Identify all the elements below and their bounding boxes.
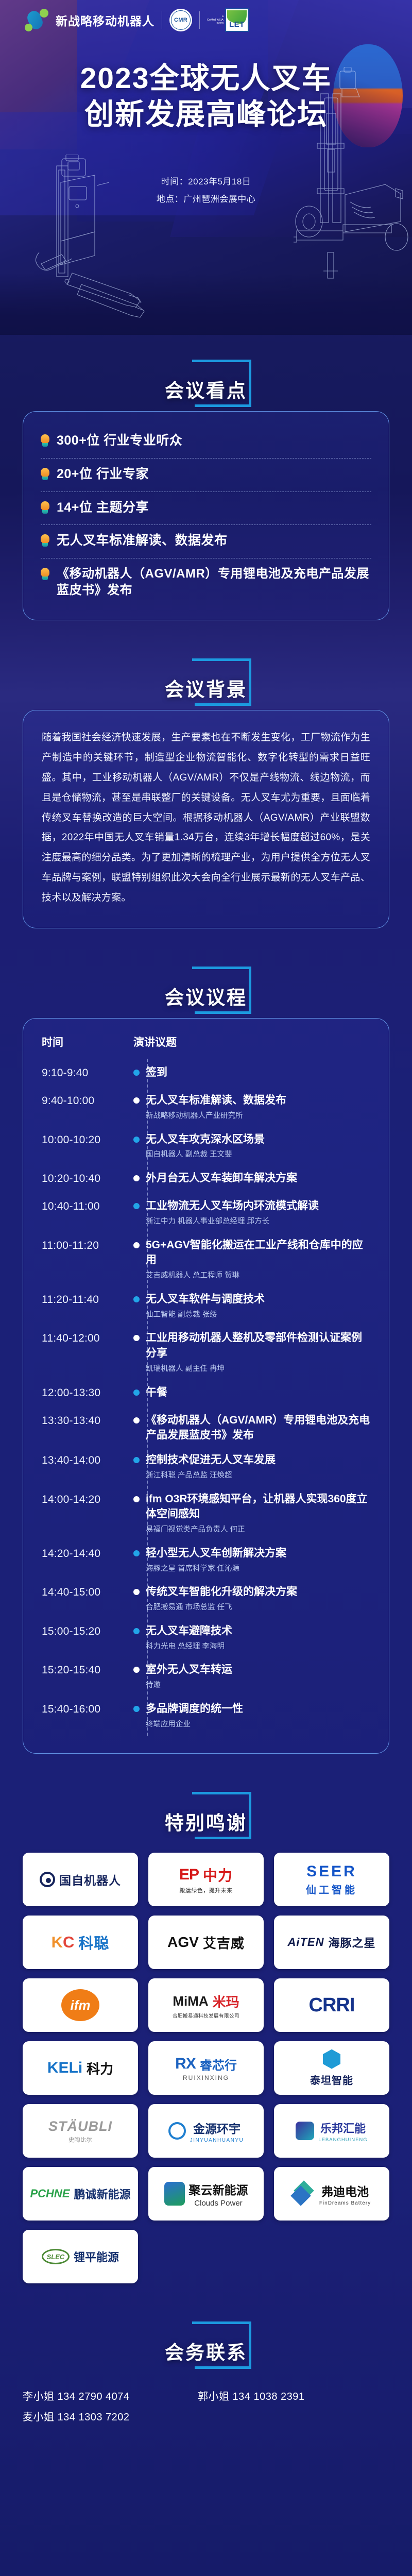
timeline-dot-icon [133, 1496, 140, 1502]
agenda-speaker: 浙江科聪 产品总监 汪焕超 [146, 1469, 371, 1482]
agenda-speaker: 国自机器人 副总裁 王文斐 [146, 1148, 371, 1161]
agenda-topic: 外月台无人叉车装卸车解决方案 [146, 1171, 371, 1186]
sponsor-abbrev: PCHNE [30, 2187, 70, 2200]
agenda-dot-cell [127, 1065, 146, 1076]
agenda-speaker: 仙工智能 副总裁 张绥 [146, 1309, 371, 1321]
agenda-dot-cell [127, 1385, 146, 1396]
let-sub-c: event [207, 22, 224, 25]
agenda-speaker: 艾吉威机器人 总工程师 贺琳 [146, 1269, 371, 1282]
highlights-heading: 会议看点 [165, 375, 247, 403]
sponsor-tagline: 搬运绿色，提升未来 [179, 1886, 233, 1894]
background-paragraph: 随着我国社会经济快速发展，生产要素也在不断发生变化，工厂物流作为生产制造中的关键… [42, 728, 370, 908]
agenda-dot-cell [127, 1662, 146, 1673]
agenda-row: 14:00-14:20ifm O3R环境感知平台，让机器人实现360度立体空间感… [42, 1487, 371, 1541]
lightbulb-icon [41, 468, 49, 481]
agenda-card: 时间 演讲议题 9:10-9:40签到9:40-10:00无人叉车标准解读、数据… [23, 1018, 389, 1754]
highlight-item: 无人叉车标准解读、数据发布 [41, 524, 371, 558]
contact-item: 麦小姐 134 1303 7202 [23, 2407, 198, 2428]
timeline-dot-icon [133, 1417, 140, 1423]
agenda-dot-cell [127, 1546, 146, 1556]
section-header-agenda: 会议议程 [0, 964, 412, 1018]
timeline-dot-icon [133, 1706, 140, 1712]
event-date: 时间：2023年5月18日 [0, 173, 412, 191]
agenda-body: 签到 [146, 1065, 371, 1080]
let-logo-icon: LET [225, 8, 249, 32]
agenda-speaker: 易福门视觉类产品负责人 何正 [146, 1523, 371, 1536]
sponsor-logo-lebang: 乐邦汇能 LEBANGHUINENG [274, 2104, 389, 2158]
highlight-item: 《移动机器人（AGV/AMR）专用锂电池及充电产品发展蓝皮书》发布 [41, 558, 371, 607]
agenda-body: 无人叉车软件与调度技术仙工智能 副总裁 张绥 [146, 1292, 371, 1321]
agenda-row: 14:20-14:40轻小型无人叉车创新解决方案海豚之星 首席科学家 任沁源 [42, 1541, 371, 1580]
section-header-sponsors: 特别鸣谢 [0, 1790, 412, 1843]
agenda-time: 14:00-14:20 [42, 1492, 127, 1508]
sponsor-tagline: RUIXINXING [183, 2074, 229, 2081]
agenda-body: 传统叉车智能化升级的解决方案合肥搬易通 市场总监 任飞 [146, 1584, 371, 1614]
sponsor-logo-cloudspower: 聚云新能源 Clouds Power [148, 2167, 264, 2221]
highlight-text: 14+位 主题分享 [57, 499, 149, 517]
ifm-mark-icon: ifm [61, 1989, 99, 2021]
agenda-dot-cell [127, 1452, 146, 1463]
jinyuan-mark-icon [168, 2122, 186, 2140]
agenda-topic: 轻小型无人叉车创新解决方案 [146, 1546, 371, 1561]
timeline-dot-icon [133, 1457, 140, 1463]
agenda-time: 10:20-10:40 [42, 1171, 127, 1187]
sponsor-name: 聚云新能源 [189, 2180, 248, 2198]
sponsor-logo-pchne: PCHNE 鹏诚新能源 [23, 2167, 138, 2221]
sponsor-abbrev: AGV [167, 1934, 199, 1951]
sponsor-logo-seer: SEER 仙工智能 [274, 1853, 389, 1906]
agenda-time: 11:00-11:20 [42, 1238, 127, 1254]
agenda-row: 9:10-9:40签到 [42, 1061, 371, 1089]
sponsor-tagline: FinDreams Battery [319, 2200, 371, 2206]
contact-item: 李小姐 134 2790 4074 [23, 2386, 198, 2407]
agenda-row: 10:40-11:00工业物流无人叉车场内环流模式解读浙江中力 机器人事业部总经… [42, 1194, 371, 1233]
agenda-topic: ifm O3R环境感知平台，让机器人实现360度立体空间感知 [146, 1492, 371, 1522]
agenda-speaker: 终端应用企业 [146, 1718, 371, 1731]
agenda-topic: 无人叉车标准解读、数据发布 [146, 1093, 371, 1108]
lebang-mark-icon [296, 2122, 314, 2140]
agenda-dot-cell [127, 1093, 146, 1104]
sponsor-logo-crri: CRRI [274, 1978, 389, 2032]
sponsors-grid: 国自机器人 EP 中力 搬运绿色，提升未来 SEER 仙工智能 KC 科聪 [23, 1853, 389, 2283]
agenda-topic: 工业物流无人叉车场内环流模式解读 [146, 1198, 371, 1214]
agenda-row: 15:00-15:20无人叉车避障技术科力光电 总经理 李海明 [42, 1619, 371, 1658]
agenda-time: 15:20-15:40 [42, 1662, 127, 1679]
sponsor-logo-staubli: STÄUBLI 史陶比尔 [23, 2104, 138, 2158]
sponsor-abbrev: SLEC [47, 2253, 65, 2261]
sponsor-name: 仙工智能 [306, 1882, 357, 1896]
event-meta: 时间：2023年5月18日 地点：广州琶洲会展中心 [0, 173, 412, 208]
sponsor-tagline: JINYUANHUANYU [190, 2138, 244, 2143]
agenda-speaker: 凯瑞机器人 副主任 冉坤 [146, 1363, 371, 1376]
timeline-dot-icon [133, 1137, 140, 1143]
sponsor-name: 金源环宇 [193, 2119, 241, 2137]
agenda-row: 9:40-10:00无人叉车标准解读、数据发布新战略移动机器人产业研究所 [42, 1089, 371, 1127]
taitan-mark-icon [323, 2049, 340, 2069]
agenda-row: 15:40-16:00多品牌调度的统一性终端应用企业 [42, 1697, 371, 1736]
agenda-time: 9:40-10:00 [42, 1093, 127, 1109]
sponsor-logo-aiten: AiTEN 海豚之星 [274, 1916, 389, 1969]
agenda-time: 10:00-10:20 [42, 1132, 127, 1148]
agenda-body: 多品牌调度的统一性终端应用企业 [146, 1701, 371, 1731]
agenda-speaker: 海豚之星 首席科学家 任沁源 [146, 1563, 371, 1575]
agenda-time: 12:00-13:30 [42, 1385, 127, 1401]
agenda-speaker: 合肥搬易通 市场总监 任飞 [146, 1601, 371, 1614]
sponsor-logo-slec: SLEC 锂平能源 [23, 2230, 138, 2283]
agenda-dot-cell [127, 1132, 146, 1143]
agenda-topic: 签到 [146, 1065, 371, 1080]
title-line-1: 2023全球无人叉车 [0, 61, 412, 97]
agenda-topic: 工业用移动机器人整机及零部件检测认证案例分享 [146, 1330, 371, 1361]
sponsor-name: 科聪 [78, 1931, 109, 1953]
agenda-time: 9:10-9:40 [42, 1065, 127, 1081]
event-venue: 地点：广州琶洲会展中心 [0, 191, 412, 208]
sponsor-name: 艾吉威 [203, 1933, 245, 1952]
sponsors-heading: 特别鸣谢 [165, 1807, 247, 1835]
lightbulb-icon [41, 568, 49, 581]
sponsor-tagline: 合肥搬易通科技发展有限公司 [173, 2012, 239, 2019]
clouds-power-mark-icon [164, 2182, 185, 2206]
timeline-dot-icon [133, 1335, 140, 1341]
let-logo-group: a CeMAT ASIA event LET [207, 8, 249, 32]
agenda-row: 13:40-14:00控制技术促进无人叉车发展浙江科聪 产品总监 汪焕超 [42, 1448, 371, 1487]
agenda-topic: 控制技术促进无人叉车发展 [146, 1452, 371, 1468]
agenda-dot-cell [127, 1623, 146, 1634]
agenda-topic: 5G+AGV智能化搬运在工业产线和仓库中的应用 [146, 1238, 371, 1268]
lightbulb-icon [41, 501, 49, 514]
contact-heading: 会务联系 [165, 2337, 247, 2365]
agenda-body: 外月台无人叉车装卸车解决方案 [146, 1171, 371, 1186]
agenda-topic: 无人叉车攻克深水区场景 [146, 1132, 371, 1147]
background-heading: 会议背景 [165, 674, 247, 702]
sponsor-logo-zhongli: EP 中力 搬运绿色，提升未来 [148, 1853, 264, 1906]
highlight-text: 无人叉车标准解读、数据发布 [57, 532, 228, 550]
agenda-body: 轻小型无人叉车创新解决方案海豚之星 首席科学家 任沁源 [146, 1546, 371, 1575]
agenda-body: 无人叉车避障技术科力光电 总经理 李海明 [146, 1623, 371, 1653]
sponsor-tagline: LEBANGHUINENG [318, 2137, 367, 2143]
timeline-dot-icon [133, 1097, 140, 1104]
agenda-topic: 无人叉车软件与调度技术 [146, 1292, 371, 1307]
sponsor-name: 弗迪电池 [321, 2182, 369, 2199]
let-sub-b: CeMAT ASIA [207, 19, 224, 22]
agenda-body: 工业物流无人叉车场内环流模式解读浙江中力 机器人事业部总经理 邱方长 [146, 1198, 371, 1228]
sponsor-tagline: Clouds Power [194, 2199, 242, 2208]
timeline-dot-icon [133, 1667, 140, 1673]
sponsor-logo-keli: KELi 科力 [23, 2041, 138, 2095]
let-sub-a: a [207, 15, 224, 19]
agenda-body: ifm O3R环境感知平台，让机器人实现360度立体空间感知易福门视觉类产品负责… [146, 1492, 371, 1536]
title-line-2: 创新发展高峰论坛 [0, 97, 412, 133]
agenda-dot-cell [127, 1492, 146, 1502]
sponsor-name: 史陶比尔 [68, 2136, 92, 2144]
agenda-col-time: 时间 [42, 1034, 133, 1049]
let-sublabels: a CeMAT ASIA event [207, 15, 224, 26]
timeline-dot-icon [133, 1389, 140, 1396]
sponsor-abbrev: AiTEN [287, 1936, 324, 1949]
timeline-dot-icon [133, 1628, 140, 1634]
sponsor-abbrev: MiMA [173, 1993, 208, 2009]
agenda-dot-cell [127, 1584, 146, 1595]
agenda-heading: 会议议程 [165, 982, 247, 1010]
agenda-speaker: 浙江中力 机器人事业部总经理 邱方长 [146, 1215, 371, 1228]
logo-divider-1 [162, 11, 162, 29]
agenda-row: 11:00-11:205G+AGV智能化搬运在工业产线和仓库中的应用艾吉威机器人… [42, 1233, 371, 1287]
agenda-time: 11:40-12:00 [42, 1330, 127, 1347]
agenda-row: 14:40-15:00传统叉车智能化升级的解决方案合肥搬易通 市场总监 任飞 [42, 1580, 371, 1619]
contact-row: 麦小姐 134 1303 7202 [23, 2407, 389, 2428]
sponsor-abbrev: KELi [47, 2059, 82, 2077]
agenda-table: 时间 演讲议题 9:10-9:40签到9:40-10:00无人叉车标准解读、数据… [23, 1019, 389, 1753]
agenda-topic: 《移动机器人（AGV/AMR）专用锂电池及充电产品发展蓝皮书》发布 [146, 1413, 371, 1444]
sponsor-name: 海豚之星 [328, 1934, 375, 1951]
section-header-contact: 会务联系 [0, 2319, 412, 2373]
slec-mark-icon: SLEC [42, 2249, 70, 2264]
agenda-speaker: 科力光电 总经理 李海明 [146, 1640, 371, 1653]
sponsor-logo-mima: MiMA 米玛 合肥搬易通科技发展有限公司 [148, 1978, 264, 2032]
highlight-item: 300+位 行业专业听众 [41, 425, 371, 458]
timeline-dot-icon [133, 1175, 140, 1181]
contact-item: 郭小姐 134 1038 2391 [198, 2386, 373, 2407]
guozi-mark-icon [40, 1872, 55, 1887]
sponsor-name: 泰坦智能 [310, 2072, 353, 2087]
agenda-dot-cell [127, 1413, 146, 1423]
sponsor-abbrev: KC [51, 1933, 75, 1952]
agenda-row: 12:00-13:30午餐 [42, 1381, 371, 1409]
findreams-mark-icon [293, 2183, 315, 2204]
section-header-highlights: 会议看点 [0, 358, 412, 411]
sponsor-logo-guozi: 国自机器人 [23, 1853, 138, 1906]
sponsor-logo-kecong: KC 科聪 [23, 1916, 138, 1969]
contact-list: 李小姐 134 2790 4074 郭小姐 134 1038 2391 麦小姐 … [23, 2386, 389, 2428]
sponsor-name: 锂平能源 [74, 2248, 119, 2265]
agenda-row: 11:20-11:40无人叉车软件与调度技术仙工智能 副总裁 张绥 [42, 1287, 371, 1326]
timeline-dot-icon [133, 1203, 140, 1209]
agenda-col-topic: 演讲议题 [133, 1034, 177, 1049]
agenda-header-row: 时间 演讲议题 [42, 1034, 371, 1049]
highlight-text: 《移动机器人（AGV/AMR）专用锂电池及充电产品发展蓝皮书》发布 [57, 566, 371, 599]
agenda-topic: 无人叉车避障技术 [146, 1623, 371, 1639]
cmr-seal-icon: CMR [169, 9, 192, 31]
timeline-dot-icon [133, 1589, 140, 1595]
agenda-row: 13:30-13:40《移动机器人（AGV/AMR）专用锂电池及充电产品发展蓝皮… [42, 1409, 371, 1449]
sponsor-abbrev: CRRI [309, 1994, 355, 2016]
agenda-rows-container: 9:10-9:40签到9:40-10:00无人叉车标准解读、数据发布新战略移动机… [42, 1061, 371, 1736]
lightbulb-icon [41, 534, 49, 547]
agenda-dot-cell [127, 1701, 146, 1712]
timeline-dot-icon [133, 1242, 140, 1248]
agenda-time: 11:20-11:40 [42, 1292, 127, 1308]
section-header-background: 会议背景 [0, 656, 412, 710]
agenda-body: 5G+AGV智能化搬运在工业产线和仓库中的应用艾吉威机器人 总工程师 贺琳 [146, 1238, 371, 1282]
agenda-row: 15:20-15:40室外无人叉车转运待邀 [42, 1658, 371, 1697]
sponsor-name: 国自机器人 [59, 1871, 121, 1888]
contact-row: 李小姐 134 2790 4074 郭小姐 134 1038 2391 [23, 2386, 389, 2407]
agenda-dot-cell [127, 1292, 146, 1302]
agenda-time: 13:30-13:40 [42, 1413, 127, 1429]
agenda-body: 午餐 [146, 1385, 371, 1400]
agenda-body: 《移动机器人（AGV/AMR）专用锂电池及充电产品发展蓝皮书》发布 [146, 1413, 371, 1444]
agenda-row: 11:40-12:00工业用移动机器人整机及零部件检测认证案例分享凯瑞机器人 副… [42, 1326, 371, 1380]
sponsor-logo-taitan: 泰坦智能 [274, 2041, 389, 2095]
agenda-topic: 多品牌调度的统一性 [146, 1701, 371, 1717]
sponsor-name: 米玛 [213, 1992, 239, 2011]
agenda-dot-cell [127, 1238, 146, 1248]
highlights-card: 300+位 行业专业听众 20+位 行业专家 14+位 主题分享 无人叉车标准解… [23, 411, 389, 620]
xinzhanlue-logo-icon [25, 8, 48, 32]
agenda-time: 15:40-16:00 [42, 1701, 127, 1718]
sponsor-logo-ruixinxing: RX 睿芯行 RUIXINXING [148, 2041, 264, 2095]
agenda-row: 10:20-10:40外月台无人叉车装卸车解决方案 [42, 1166, 371, 1194]
let-label: LET [229, 20, 245, 29]
hero-banner: 新战略移动机器人 CMR a CeMAT ASIA event LET 2023… [0, 0, 412, 335]
agenda-time: 14:20-14:40 [42, 1546, 127, 1562]
poster-root: 新战略移动机器人 CMR a CeMAT ASIA event LET 2023… [0, 0, 412, 2576]
agenda-body: 无人叉车标准解读、数据发布新战略移动机器人产业研究所 [146, 1093, 371, 1122]
sponsor-name: 睿芯行 [200, 2055, 237, 2073]
sponsor-abbrev: RX [175, 2055, 196, 2073]
agenda-body: 室外无人叉车转运待邀 [146, 1662, 371, 1691]
agenda-speaker: 新战略移动机器人产业研究所 [146, 1110, 371, 1123]
highlight-item: 14+位 主题分享 [41, 492, 371, 525]
sponsor-abbrev: STÄUBLI [48, 2119, 112, 2134]
agenda-row: 10:00-10:20无人叉车攻克深水区场景国自机器人 副总裁 王文斐 [42, 1128, 371, 1166]
highlight-text: 20+位 行业专家 [57, 466, 149, 483]
sponsor-logo-jinyuan: 金源环宇 JINYUANHUANYU [148, 2104, 264, 2158]
agenda-dot-cell [127, 1330, 146, 1341]
agenda-topic: 传统叉车智能化升级的解决方案 [146, 1584, 371, 1600]
agenda-dot-cell [127, 1198, 146, 1209]
sponsor-abbrev: SEER [306, 1863, 357, 1880]
agenda-speaker: 待邀 [146, 1679, 371, 1692]
timeline-dot-icon [133, 1070, 140, 1076]
agenda-dot-cell [127, 1171, 146, 1181]
highlight-item: 20+位 行业专家 [41, 458, 371, 492]
logo-divider-2 [199, 11, 200, 29]
agenda-time: 10:40-11:00 [42, 1198, 127, 1215]
sponsor-logo-aijiwei: AGV 艾吉威 [148, 1916, 264, 1969]
agenda-topic: 午餐 [146, 1385, 371, 1400]
sponsor-name: 中力 [203, 1865, 233, 1885]
agenda-body: 工业用移动机器人整机及零部件检测认证案例分享凯瑞机器人 副主任 冉坤 [146, 1330, 371, 1375]
sponsor-abbrev: EP [179, 1866, 199, 1884]
lightbulb-icon [41, 434, 49, 447]
agenda-time: 14:40-15:00 [42, 1584, 127, 1601]
brand-name: 新战略移动机器人 [56, 11, 154, 29]
sponsor-name: 鹏诚新能源 [74, 2185, 131, 2202]
logo-bar: 新战略移动机器人 CMR a CeMAT ASIA event LET [25, 8, 249, 32]
background-card: 随着我国社会经济快速发展，生产要素也在不断发生变化，工厂物流作为生产制造中的关键… [23, 710, 389, 928]
event-title: 2023全球无人叉车 创新发展高峰论坛 [0, 61, 412, 132]
sponsor-logo-ifm: ifm [23, 1978, 138, 2032]
sponsor-logo-findreams: 弗迪电池 FinDreams Battery [274, 2167, 389, 2221]
agenda-body: 控制技术促进无人叉车发展浙江科聪 产品总监 汪焕超 [146, 1452, 371, 1482]
timeline-dot-icon [133, 1550, 140, 1556]
sponsor-name: 科力 [87, 2059, 113, 2078]
agenda-time: 15:00-15:20 [42, 1623, 127, 1640]
agenda-body: 无人叉车攻克深水区场景国自机器人 副总裁 王文斐 [146, 1132, 371, 1161]
cmr-label: CMR [174, 17, 187, 23]
highlight-text: 300+位 行业专业听众 [57, 432, 182, 450]
sponsor-name: 乐邦汇能 [320, 2120, 366, 2136]
timeline-dot-icon [133, 1296, 140, 1302]
agenda-timeline-rail [147, 1059, 148, 1736]
agenda-time: 13:40-14:00 [42, 1452, 127, 1469]
sponsor-abbrev: ifm [71, 1997, 91, 2013]
agenda-topic: 室外无人叉车转运 [146, 1662, 371, 1677]
